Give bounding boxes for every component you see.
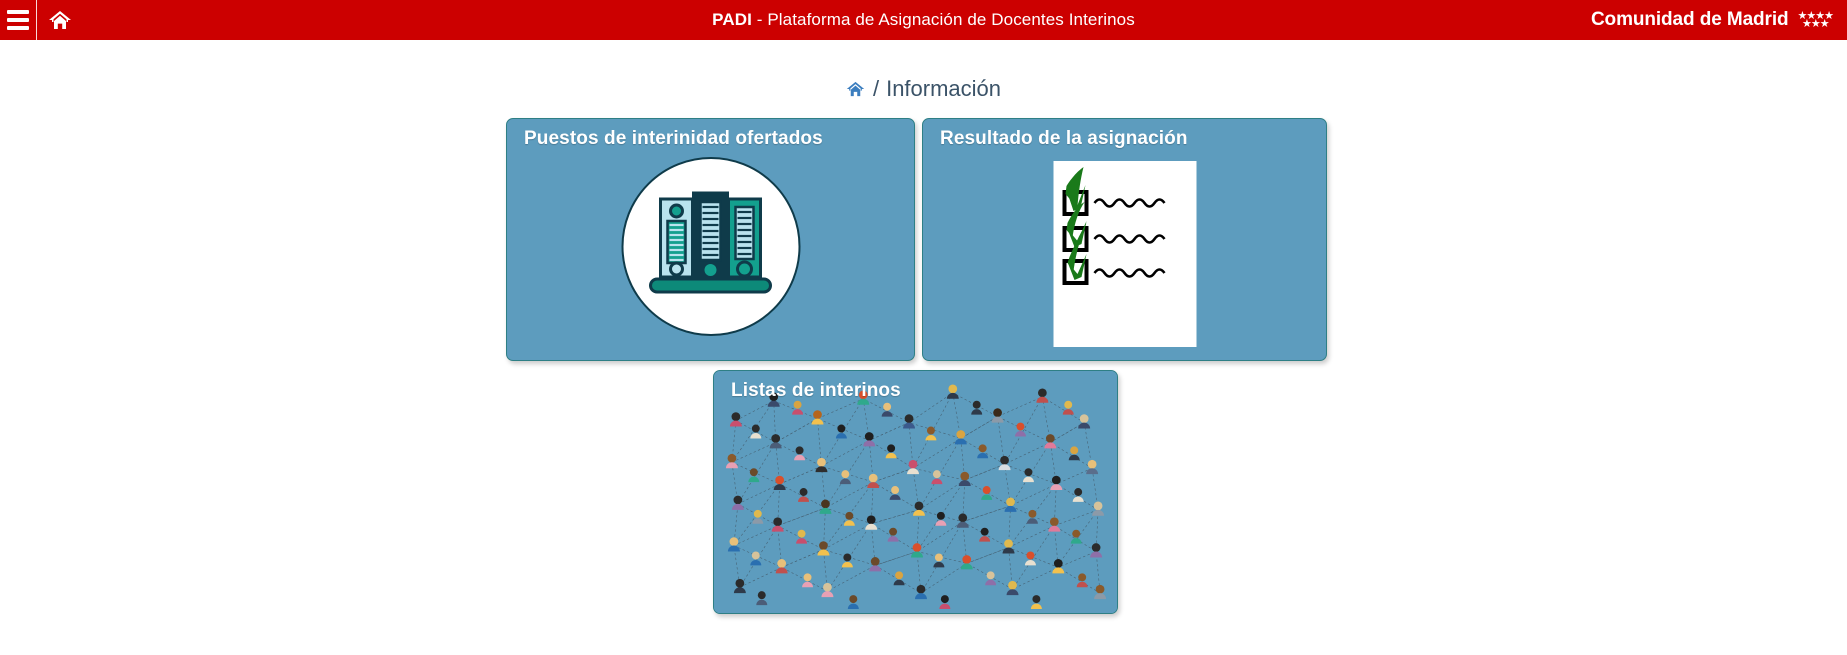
- app-title-brand: PADI: [712, 10, 752, 29]
- checklist-document-icon: [1053, 161, 1196, 347]
- breadcrumb: / Información: [0, 40, 1847, 102]
- card-listas-de-interinos[interactable]: Listas de interinos: [713, 370, 1118, 614]
- app-title: PADI - Plataforma de Asignación de Docen…: [0, 0, 1847, 40]
- people-network-icon: [714, 371, 1117, 613]
- topbar-divider: [36, 0, 37, 40]
- card-title-resultado: Resultado de la asignación: [940, 128, 1188, 150]
- comunidad-de-madrid-stars-icon: ★★★★ ★★★: [1798, 11, 1833, 29]
- card-title-listas: Listas de interinos: [731, 380, 901, 402]
- home-icon: [48, 9, 72, 31]
- app-title-rest: - Plataforma de Asignación de Docentes I…: [752, 10, 1135, 29]
- comunidad-de-madrid-logo-text: Comunidad de Madrid: [1591, 9, 1789, 31]
- breadcrumb-current-page: Información: [886, 76, 1001, 102]
- topbar-home-button[interactable]: [37, 0, 83, 40]
- hamburger-bar-3: [7, 26, 29, 30]
- card-resultado-de-la-asignacion[interactable]: Resultado de la asignación: [922, 118, 1327, 361]
- hamburger-bar-1: [7, 10, 29, 14]
- comunidad-de-madrid-logo: Comunidad de Madrid ★★★★ ★★★: [1591, 0, 1833, 40]
- card-puestos-de-interinidad-ofertados[interactable]: Puestos de interinidad ofertados: [506, 118, 915, 361]
- top-bar: PADI - Plataforma de Asignación de Docen…: [0, 0, 1847, 40]
- card-title-puestos: Puestos de interinidad ofertados: [524, 128, 823, 150]
- breadcrumb-home-icon[interactable]: [846, 80, 865, 98]
- hamburger-bar-2: [7, 18, 29, 22]
- breadcrumb-separator: /: [873, 76, 879, 102]
- server-racks-icon: [621, 157, 800, 336]
- hamburger-menu-icon[interactable]: [0, 0, 36, 40]
- logo-stars-bottom-row: ★★★: [1802, 20, 1829, 29]
